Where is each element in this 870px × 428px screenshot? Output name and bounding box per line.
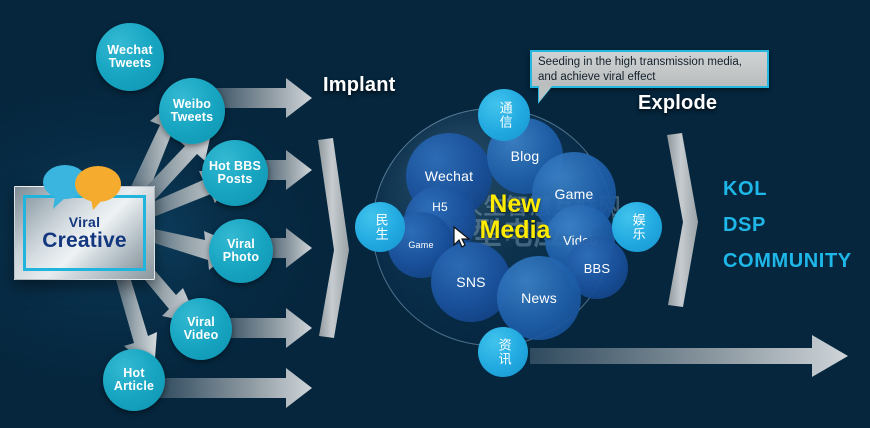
channel-viral-video[interactable]: Viral Video [170, 298, 232, 360]
node-label: 民生 [373, 213, 386, 241]
node-label: 通信 [497, 101, 510, 129]
channel-hot-article[interactable]: Hot Article [103, 349, 165, 411]
cursor-icon [451, 225, 477, 251]
viral-creative-line1: Viral [69, 215, 101, 229]
callout-text: Seeding in the high transmission media, … [538, 56, 742, 83]
channel-label-line2: Article [114, 380, 154, 393]
node-zixun[interactable]: 资讯 [478, 327, 528, 377]
node-label: H5 [432, 200, 448, 214]
diagram-canvas: Viral Creative Wechat Tweets Weibo Tweet… [0, 0, 870, 428]
channel-label-line2: Photo [223, 251, 259, 264]
outcome-kol[interactable]: KOL [723, 178, 767, 201]
channel-label-line1: Viral [227, 238, 255, 251]
node-label: Game [408, 240, 433, 250]
node-label: News [521, 290, 557, 306]
explode-flow-arrow [530, 335, 848, 377]
channel-label-line1: Hot BBS [209, 160, 261, 173]
outcome-dsp[interactable]: DSP [723, 214, 766, 237]
channel-label-line1: Weibo [173, 98, 211, 111]
node-label: 娱乐 [630, 213, 643, 241]
node-label: BBS [584, 261, 611, 276]
node-label: Blog [511, 148, 540, 164]
channel-label-line1: Viral [187, 316, 215, 329]
speech-bubbles-icon [35, 160, 145, 210]
stage-label-explode: Explode [638, 92, 717, 115]
node-label: Wechat [425, 168, 473, 184]
channel-label-line2: Tweets [171, 111, 214, 124]
node-tongxin[interactable]: 通信 [478, 89, 530, 141]
channel-viral-photo[interactable]: Viral Photo [209, 219, 273, 283]
channel-label-line2: Video [184, 329, 219, 342]
callout-tail [539, 86, 552, 102]
node-label: 资讯 [496, 338, 509, 366]
channel-label-line2: Tweets [109, 57, 152, 70]
new-media-line1: New [455, 192, 575, 218]
channel-wechat-tweets[interactable]: Wechat Tweets [96, 23, 164, 91]
stage-label-implant: Implant [323, 74, 396, 97]
outcome-community[interactable]: COMMUNITY [723, 250, 852, 273]
implant-chevron [318, 138, 349, 338]
node-label: SNS [456, 274, 485, 290]
channel-label-line1: Wechat [107, 44, 152, 57]
node-minsheng[interactable]: 民生 [355, 202, 405, 252]
channel-label-line1: Hot [123, 367, 144, 380]
channel-hot-bbs-posts[interactable]: Hot BBS Posts [202, 140, 268, 206]
callout-box: Seeding in the high transmission media, … [530, 50, 769, 88]
channel-label-line2: Posts [217, 173, 252, 186]
channel-weibo-tweets[interactable]: Weibo Tweets [159, 78, 225, 144]
node-yule[interactable]: 娱乐 [612, 202, 662, 252]
explode-chevron [667, 133, 698, 307]
viral-creative-line2: Creative [42, 230, 126, 251]
